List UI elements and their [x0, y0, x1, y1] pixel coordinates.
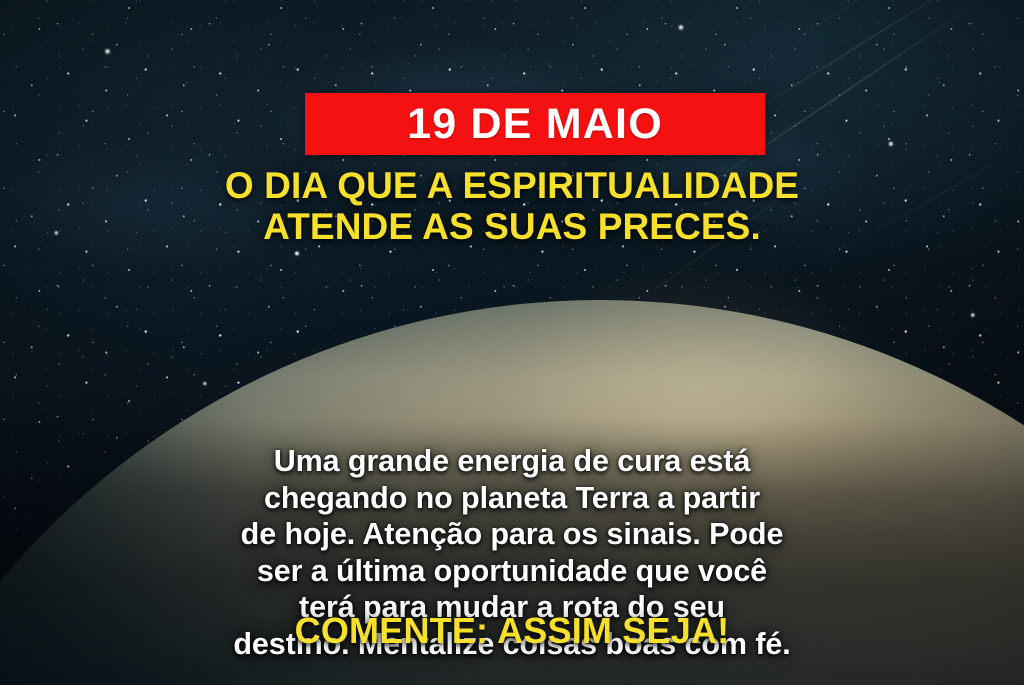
- headline-line-1: O DIA QUE A ESPIRITUALIDADE: [0, 166, 1024, 207]
- call-to-action-text: COMENTE: ASSIM SEJA!: [0, 612, 1024, 650]
- body-line-3: de hoje. Atenção para os sinais. Pode: [52, 516, 972, 553]
- body-line-1: Uma grande energia de cura está: [52, 443, 972, 480]
- date-banner-label: 19 DE MAIO: [407, 103, 663, 146]
- body-line-2: chegando no planeta Terra a partir: [52, 480, 972, 517]
- headline: O DIA QUE A ESPIRITUALIDADE ATENDE AS SU…: [0, 166, 1024, 247]
- poster-canvas: 19 DE MAIO O DIA QUE A ESPIRITUALIDADE A…: [0, 0, 1024, 685]
- body-line-4: ser a última oportunidade que você: [52, 553, 972, 590]
- date-banner: 19 DE MAIO: [305, 93, 765, 155]
- poster-content: 19 DE MAIO O DIA QUE A ESPIRITUALIDADE A…: [0, 0, 1024, 685]
- headline-line-2: ATENDE AS SUAS PRECES.: [0, 207, 1024, 248]
